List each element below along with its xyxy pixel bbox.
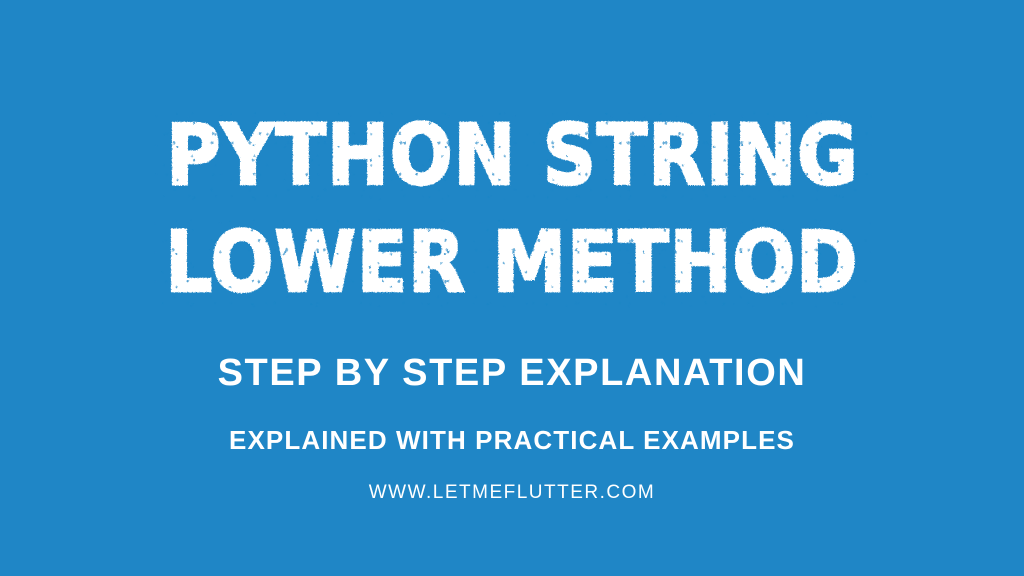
- title-line-1: PYTHON STRING: [0, 113, 1024, 197]
- title-card: PYTHON STRING LOWER METHOD STEP BY STEP …: [0, 0, 1024, 576]
- title-line-1-text: PYTHON STRING: [166, 113, 859, 197]
- title-line-2-text: LOWER METHOD: [165, 220, 858, 304]
- tagline: EXPLAINED WITH PRACTICAL EXAMPLES: [0, 427, 1024, 453]
- title-line-2: LOWER METHOD: [0, 220, 1024, 304]
- website-url: WWW.LETMEFLUTTER.COM: [0, 483, 1024, 502]
- subtitle: STEP BY STEP EXPLANATION: [0, 354, 1024, 392]
